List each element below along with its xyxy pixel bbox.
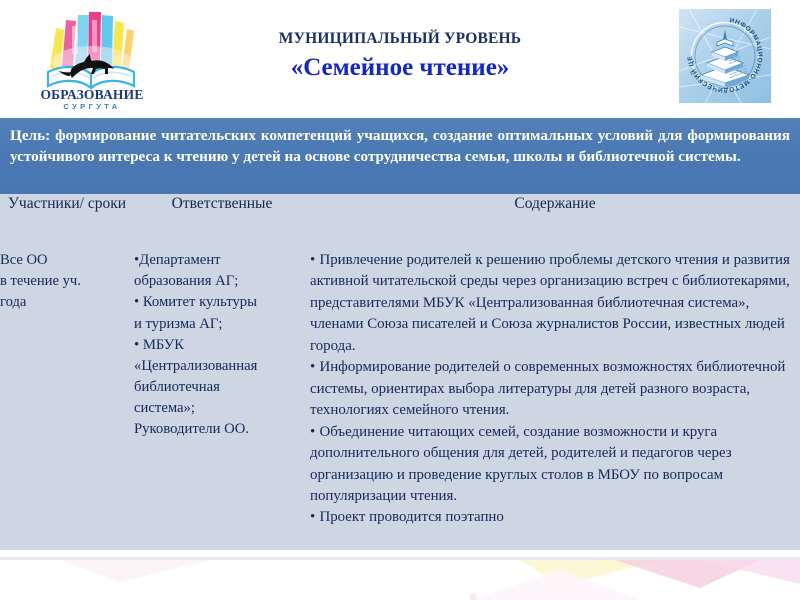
participants-line: в течение уч. (0, 271, 134, 292)
participants-line: года (0, 292, 134, 313)
responsible-line: Руководители ОО. (134, 419, 310, 440)
imc-logo: ИНФОРМАЦИОННО-МЕТОДИЧЕСКИЙ ЦЕНТР (679, 9, 771, 103)
cell-participants: Все ОО в течение уч. года (0, 250, 134, 550)
responsible-line: и туризма АГ; (134, 314, 310, 335)
slide: ОБРАЗОВАНИЕ СУРГУТА МУНИЦИПАЛЬНЫЙ УРОВЕН… (0, 0, 800, 600)
participants-line: Все ОО (0, 250, 134, 271)
cell-content: • Привлечение родителей к решению пробле… (310, 250, 800, 550)
content-bullet: • Привлечение родителей к решению пробле… (310, 250, 800, 357)
content-bullet: • Проект проводится поэтапно (310, 507, 800, 528)
content-bullet-text: Привлечение родителей к решению проблемы… (310, 252, 790, 354)
footer-decoration-shapes (0, 560, 800, 600)
bullet-glyph: • (310, 252, 316, 268)
cell-responsible: •Департамент образования АГ; • Комитет к… (134, 250, 310, 550)
bullet-glyph: • (310, 359, 316, 375)
slide-supertitle: МУНИЦИПАЛЬНЫЙ УРОВЕНЬ (180, 30, 620, 47)
responsible-line: система»; (134, 398, 310, 419)
bullet-glyph: • (310, 509, 316, 525)
responsible-line: образования АГ; (134, 271, 310, 292)
responsible-line: •Департамент (134, 250, 310, 271)
footer-decoration (0, 560, 800, 600)
plan-table: Участники/ сроки Ответственные Содержани… (0, 194, 800, 550)
table-header-participants: Участники/ сроки (0, 194, 134, 250)
content-bullet-text: Объединение читающих семей, создание воз… (310, 424, 732, 504)
title-block: МУНИЦИПАЛЬНЫЙ УРОВЕНЬ «Семейное чтение» (180, 30, 620, 83)
responsible-line: • МБУК (134, 335, 310, 356)
obrazovanie-surguta-logo: ОБРАЗОВАНИЕ СУРГУТА (26, 6, 158, 112)
table-body: Все ОО в течение уч. года •Департамент о… (0, 250, 800, 550)
responsible-line: библиотечная (134, 377, 310, 398)
content-bullet: • Объединение читающих семей, создание в… (310, 422, 800, 508)
table-header-content: Содержание (310, 194, 800, 250)
obrazovanie-surguta-logo-icon: ОБРАЗОВАНИЕ СУРГУТА (26, 6, 158, 112)
responsible-line: «Централизованная (134, 356, 310, 377)
table-header-row: Участники/ сроки Ответственные Содержани… (0, 194, 800, 250)
slide-header: ОБРАЗОВАНИЕ СУРГУТА МУНИЦИПАЛЬНЫЙ УРОВЕН… (0, 0, 800, 118)
table-row: Все ОО в течение уч. года •Департамент о… (0, 250, 800, 550)
responsible-line: • Комитет культуры (134, 292, 310, 313)
imc-logo-icon: ИНФОРМАЦИОННО-МЕТОДИЧЕСКИЙ ЦЕНТР (679, 9, 771, 103)
slide-title: «Семейное чтение» (180, 54, 620, 83)
svg-text:СУРГУТА: СУРГУТА (63, 102, 120, 111)
table-header: Участники/ сроки Ответственные Содержани… (0, 194, 800, 250)
table-header-participants-label: Участники/ сроки (0, 194, 134, 214)
svg-text:ОБРАЗОВАНИЕ: ОБРАЗОВАНИЕ (40, 87, 143, 102)
bullet-glyph: • (310, 424, 316, 440)
table-header-responsible-label: Ответственные (134, 194, 310, 214)
table-header-content-label: Содержание (310, 194, 800, 214)
goal-banner: Цель: формирование читательских компетен… (0, 118, 800, 194)
content-bullet: • Информирование родителей о современных… (310, 357, 800, 421)
table-header-responsible: Ответственные (134, 194, 310, 250)
content-bullet-text: Информирование родителей о современных в… (310, 359, 785, 418)
content-bullet-text: Проект проводится поэтапно (319, 509, 503, 525)
goal-text: Цель: формирование читательских компетен… (10, 126, 790, 167)
